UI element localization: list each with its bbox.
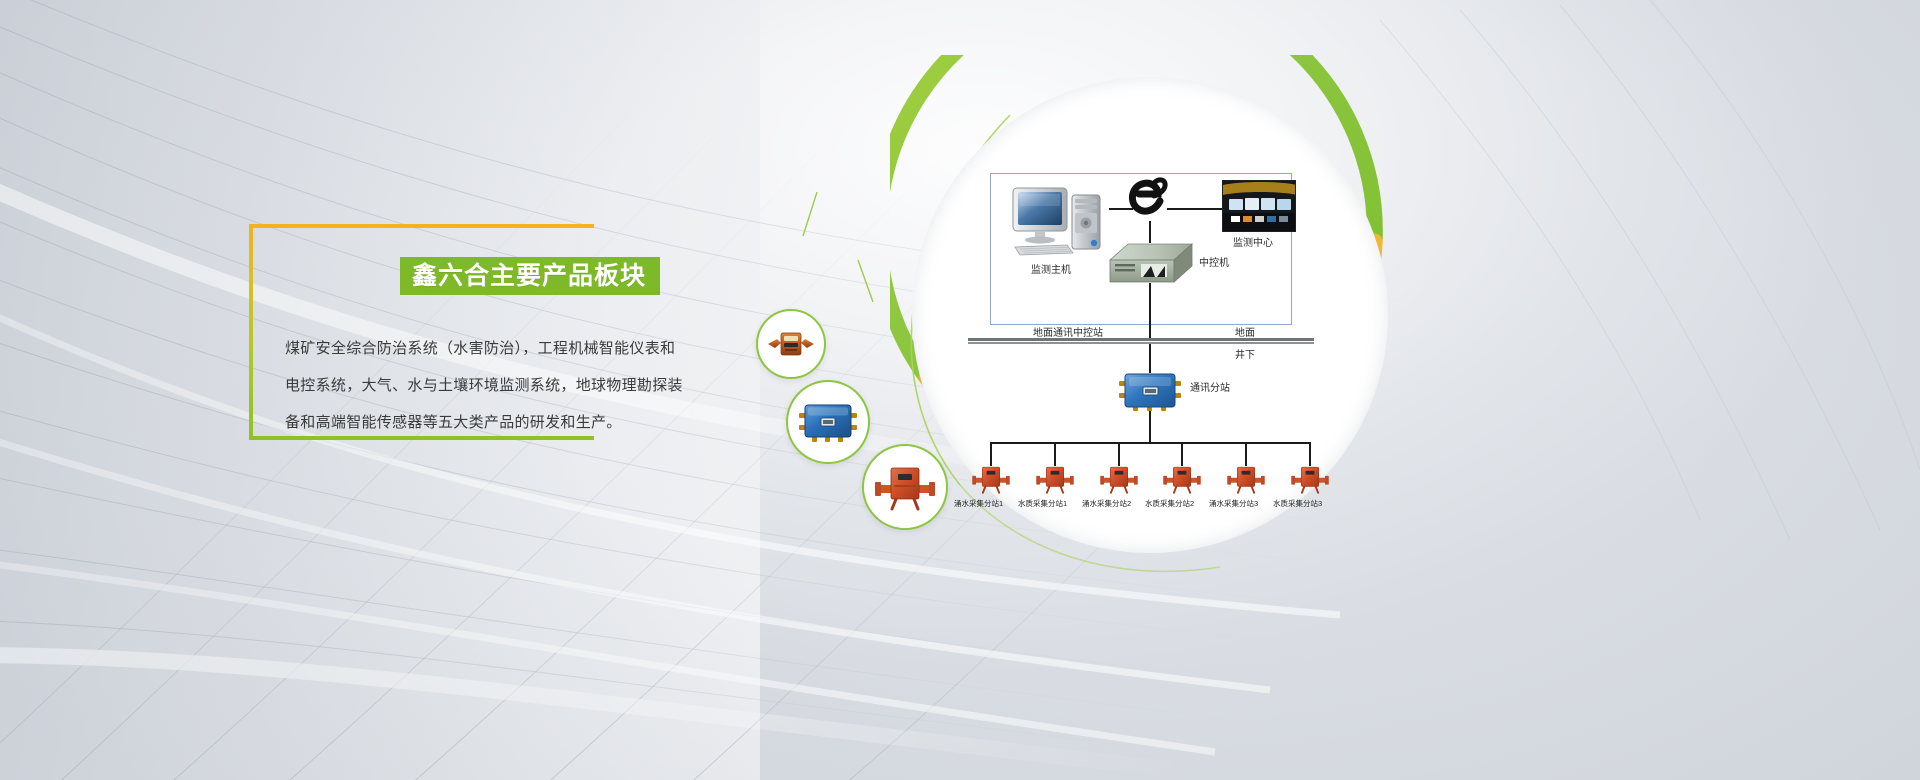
wire-drop-4	[1181, 442, 1183, 466]
panel-left-border	[249, 224, 253, 440]
label-station-5: 涌水采集分站3	[1209, 498, 1258, 509]
red-flange-box-icon	[1162, 464, 1202, 494]
panel-body-text: 煤矿安全综合防治系统（水害防治），工程机械智能仪表和 电控系统，大气、水与土壤环…	[285, 330, 705, 441]
screen-wall-icon	[1222, 180, 1296, 232]
internet-e-icon	[1124, 175, 1170, 221]
desktop-computer-icon	[1010, 185, 1106, 259]
orange-sensor-device-icon	[767, 330, 815, 358]
red-flange-box-icon	[1290, 464, 1330, 494]
label-central-control: 中控机	[1199, 259, 1229, 269]
wire-drop-2	[1054, 442, 1056, 466]
product-bubble-2[interactable]	[786, 380, 870, 464]
panel-top-border	[249, 224, 594, 228]
body-line-1: 煤矿安全综合防治系统（水害防治），工程机械智能仪表和	[285, 330, 705, 367]
wire-drop-5	[1245, 442, 1247, 466]
product-bubble-3[interactable]	[862, 444, 948, 530]
label-station-4: 水质采集分站2	[1145, 498, 1194, 509]
banner-stage: 鑫六合主要产品板块 煤矿安全综合防治系统（水害防治），工程机械智能仪表和 电控系…	[0, 0, 1920, 780]
label-monitor-center: 监测中心	[1233, 239, 1273, 249]
ground-level-line	[968, 338, 1314, 341]
wire-drop-1	[990, 442, 992, 466]
blue-junction-box-icon	[1119, 371, 1181, 411]
red-flange-box-icon	[1099, 464, 1139, 494]
product-bubble-1[interactable]	[756, 309, 826, 379]
page-title-banner: 鑫六合主要产品板块	[400, 257, 660, 295]
blue-junction-box-icon	[799, 402, 857, 442]
body-line-3: 备和高端智能传感器等五大类产品的研发和生产。	[285, 404, 705, 441]
wire-hub-down	[1149, 411, 1151, 443]
label-station-1: 涌水采集分站1	[954, 498, 1003, 509]
label-monitor-host: 监测主机	[1031, 266, 1071, 276]
label-station-2: 水质采集分站1	[1018, 498, 1067, 509]
red-flange-box-icon	[1035, 464, 1075, 494]
wire-station-bus	[990, 442, 1310, 444]
body-line-2: 电控系统，大气、水与土壤环境监测系统，地球物理勘探装	[285, 367, 705, 404]
red-flange-box-icon	[971, 464, 1011, 494]
red-flange-box-icon	[1226, 464, 1266, 494]
label-comm-substation: 通讯分站	[1190, 384, 1230, 394]
wire-server-to-ground	[1149, 283, 1151, 341]
rack-server-icon	[1108, 240, 1194, 286]
ground-level-line-shadow	[968, 342, 1314, 344]
label-station-3: 涌水采集分站2	[1082, 498, 1131, 509]
page-title: 鑫六合主要产品板块	[412, 264, 646, 289]
system-architecture-diagram: 监测主机	[890, 55, 1410, 575]
label-underground: 井下	[1235, 351, 1255, 361]
red-flange-box-icon	[874, 463, 936, 511]
wire-net-to-center	[1167, 208, 1222, 210]
wire-drop-6	[1309, 442, 1311, 466]
wire-ground-to-hub	[1149, 343, 1151, 373]
label-station-6: 水质采集分站3	[1273, 498, 1322, 509]
wire-drop-3	[1118, 442, 1120, 466]
